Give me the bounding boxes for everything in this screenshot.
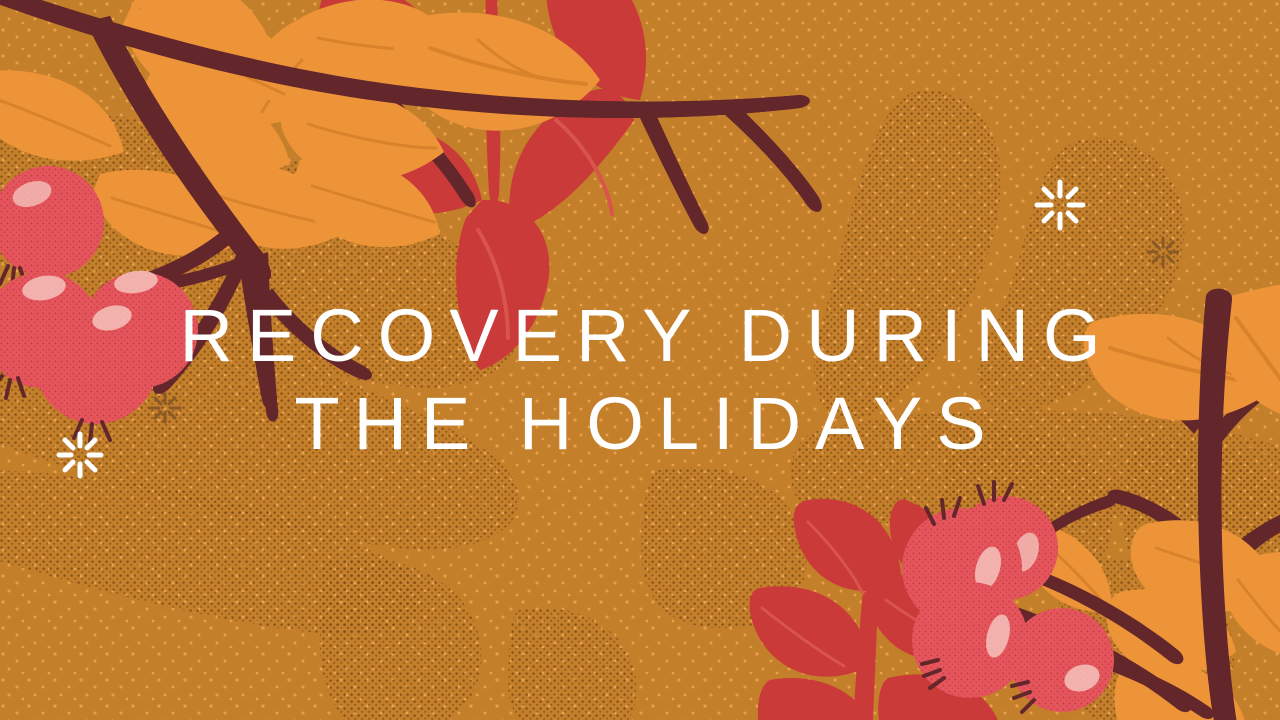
berry-br-4 <box>1010 608 1114 712</box>
poster-canvas: RECOVERY DURING THE HOLIDAYS <box>0 0 1280 720</box>
poster-artwork <box>0 0 1280 720</box>
